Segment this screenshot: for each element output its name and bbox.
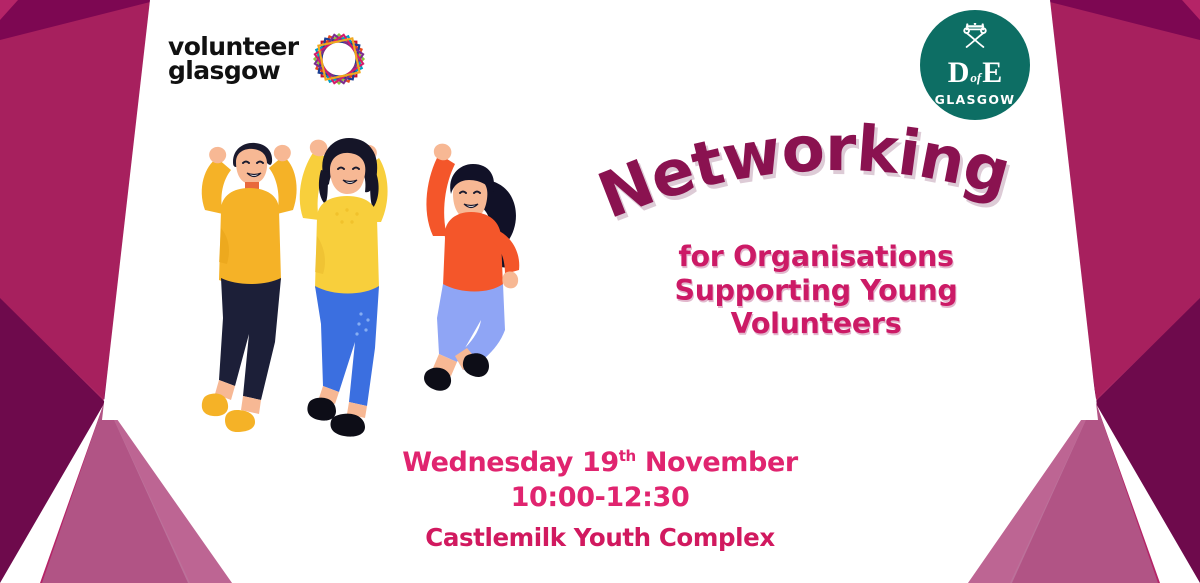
multicolour-star-icon (308, 28, 370, 90)
three-jumping-people-illustration (175, 118, 565, 438)
headline-networking: Networking Networking (596, 126, 1016, 230)
dofe-letter-d: D (948, 58, 970, 88)
dofe-glasgow-logo: D of E GLASGOW (920, 10, 1030, 120)
event-venue: Castlemilk Youth Complex (300, 523, 900, 552)
person-left-figure (202, 143, 297, 432)
event-date-suffix: November (636, 447, 798, 478)
logo-line-2: glasgow (168, 59, 298, 84)
volunteer-glasgow-wordmark: volunteer glasgow (168, 35, 298, 84)
event-time: 10:00-12:30 (300, 481, 900, 516)
volunteer-glasgow-logo: volunteer glasgow (168, 28, 370, 90)
dofe-city-label: GLASGOW (935, 92, 1016, 107)
headline-text: Networking (589, 112, 1018, 233)
subtitle-line-1: for Organisations (616, 240, 1016, 274)
subtitle-line-3: Volunteers (616, 307, 1016, 341)
dofe-logo-content: D of E GLASGOW (920, 10, 1030, 120)
event-banner: volunteer glasgow (0, 0, 1200, 583)
event-date-ordinal: th (619, 447, 636, 465)
dofe-letter-e: E (982, 58, 1002, 88)
subtitle-block: for Organisations Supporting Young Volun… (616, 240, 1016, 341)
event-date-prefix: Wednesday 19 (402, 447, 619, 478)
subtitle-line-2: Supporting Young (616, 274, 1016, 308)
event-date: Wednesday 19th November (300, 446, 900, 481)
person-middle-figure (300, 138, 388, 437)
event-details: Wednesday 19th November 10:00-12:30 Cast… (300, 446, 900, 552)
svg-text:Networking: Networking (589, 112, 1018, 233)
dofe-letter-of: of (969, 71, 982, 84)
crown-icon (954, 23, 996, 57)
person-right-figure (424, 144, 519, 391)
dofe-letters: D of E (948, 58, 1003, 88)
